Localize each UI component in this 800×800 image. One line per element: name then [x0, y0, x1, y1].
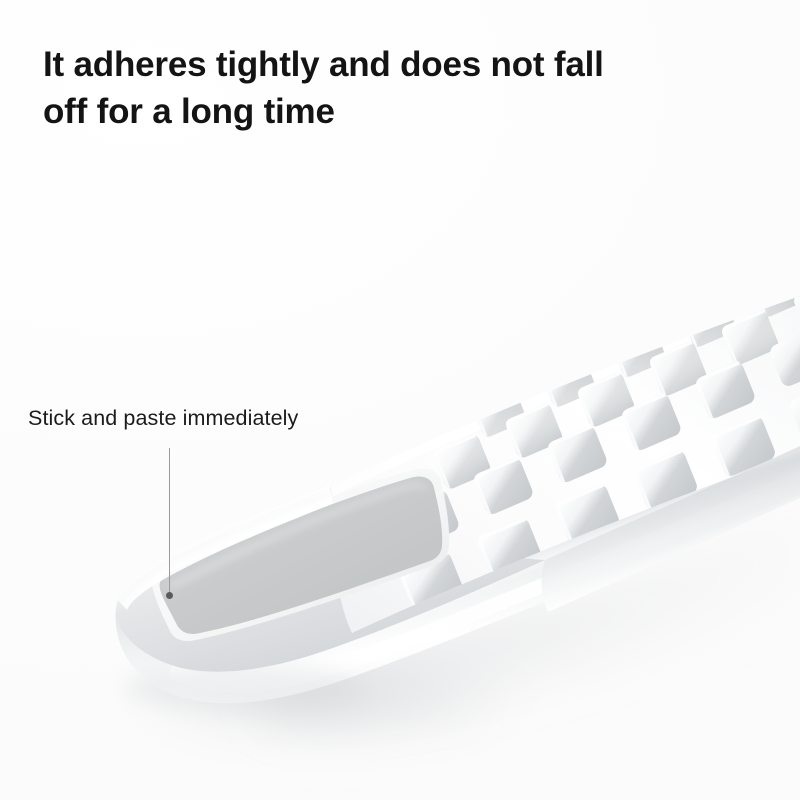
callout-leader-line	[169, 448, 170, 594]
callout-label: Stick and paste immediately	[28, 406, 298, 431]
callout-marker-dot	[166, 592, 173, 599]
page-title: It adheres tightly and does not fall off…	[43, 42, 703, 136]
product-feature-image: It adheres tightly and does not fall off…	[0, 0, 800, 800]
